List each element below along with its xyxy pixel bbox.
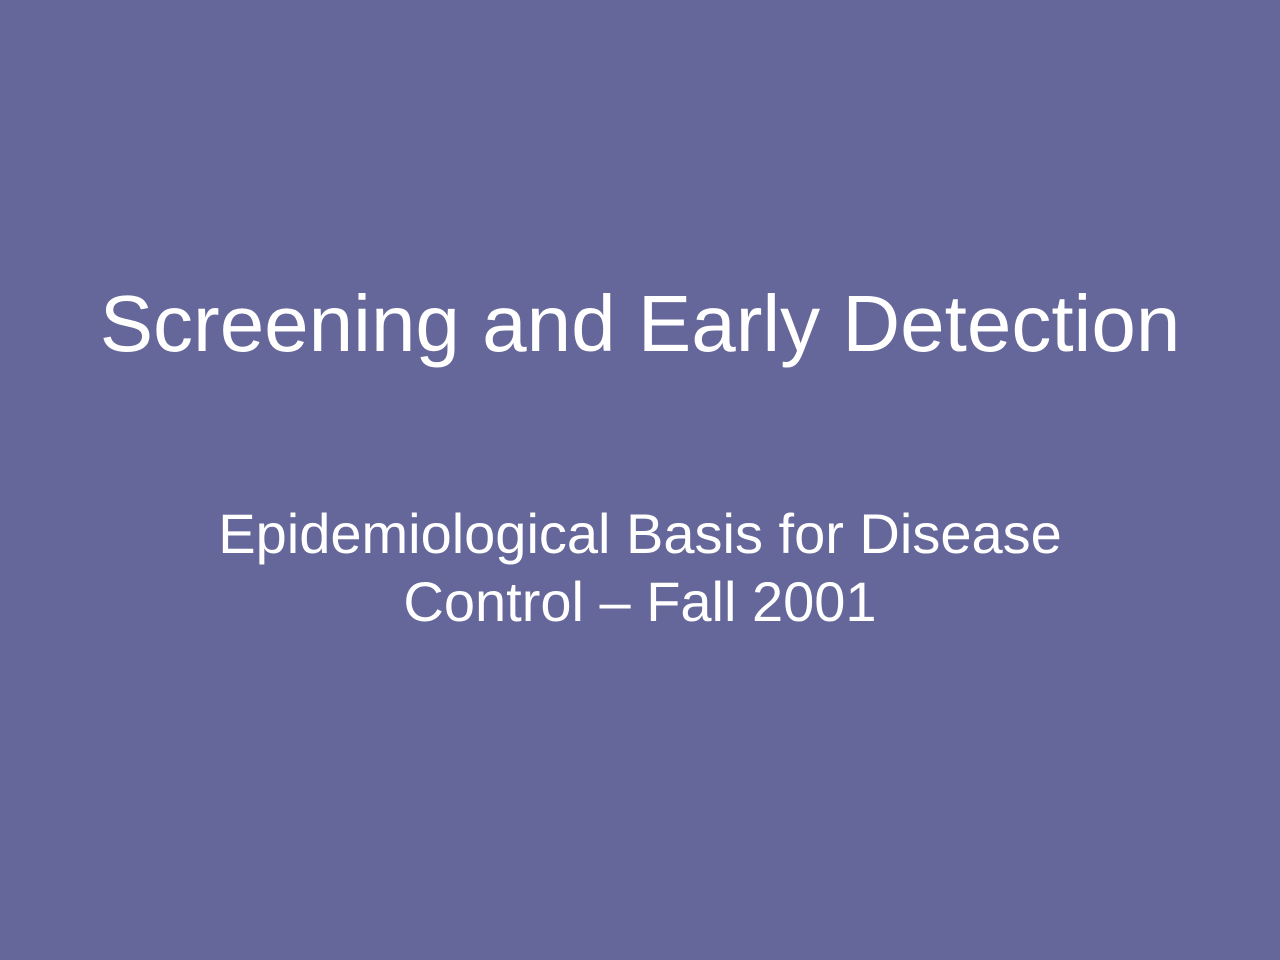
- presentation-slide: Screening and Early Detection Epidemiolo…: [0, 0, 1280, 960]
- subtitle-block: Epidemiological Basis for Disease Contro…: [0, 500, 1280, 636]
- slide-title: Screening and Early Detection: [0, 276, 1280, 372]
- title-block: Screening and Early Detection: [0, 276, 1280, 372]
- slide-subtitle-line-1: Epidemiological Basis for Disease: [0, 500, 1280, 568]
- slide-subtitle-line-2: Control – Fall 2001: [0, 568, 1280, 636]
